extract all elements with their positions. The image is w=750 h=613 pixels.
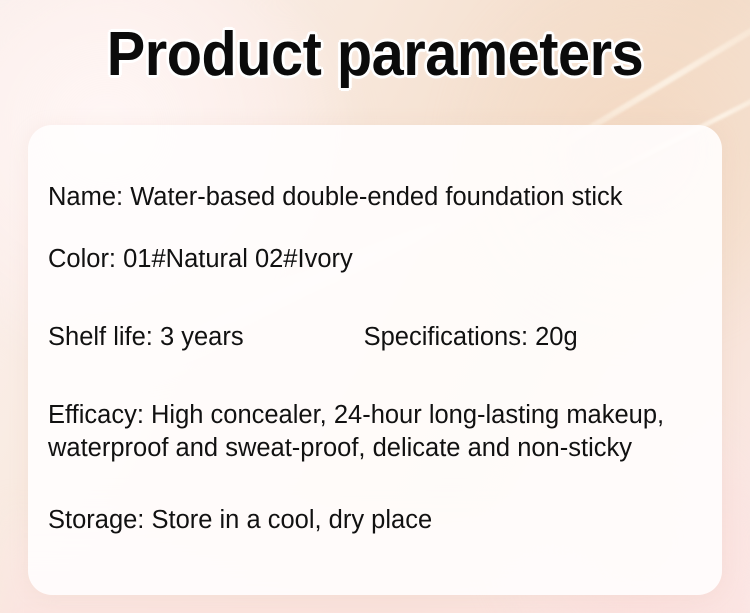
parameters-card: Name: Water-based double-ended foundatio… (28, 125, 722, 595)
parameters-list: Name: Water-based double-ended foundatio… (38, 125, 702, 595)
efficacy-line-2: waterproof and sweat-proof, delicate and… (48, 432, 702, 465)
specifications-text: Specifications: 20g (364, 323, 578, 351)
parameter-row-name: Name: Water-based double-ended foundatio… (38, 181, 702, 214)
parameter-row-color: Color: 01#Natural 02#Ivory (38, 243, 702, 276)
parameter-row-shelf-life: Shelf life: 3 yearsSpecifications: 20g (38, 321, 702, 354)
product-parameters-page: Product parameters Name: Water-based dou… (0, 0, 750, 613)
efficacy-line-1: Efficacy: High concealer, 24-hour long-l… (48, 401, 664, 429)
shelf-life-text: Shelf life: 3 years (48, 323, 244, 351)
parameter-row-efficacy: Efficacy: High concealer, 24-hour long-l… (38, 399, 702, 465)
page-title: Product parameters (26, 22, 724, 89)
parameter-row-storage: Storage: Store in a cool, dry place (38, 504, 702, 537)
